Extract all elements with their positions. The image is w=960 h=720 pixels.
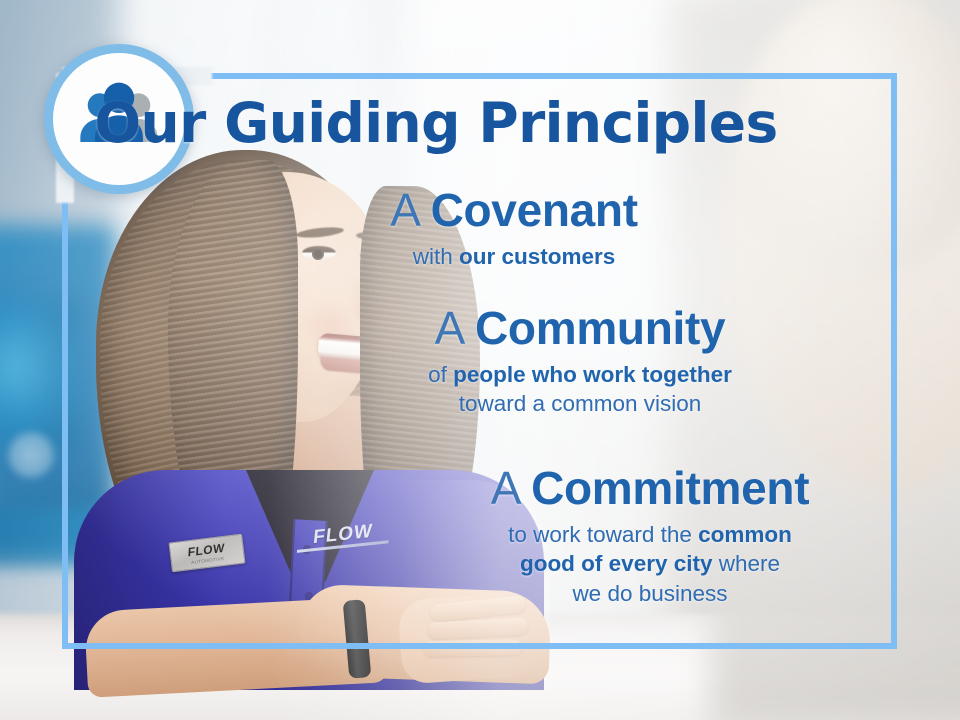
principle-commitment-keyword: Commitment — [531, 462, 809, 514]
principle-commitment: A Commitment to work toward the common g… — [400, 464, 900, 609]
principle-commitment-sub-line1-lead: to work toward the — [508, 522, 698, 547]
principle-commitment-sub-line2-tail: where — [713, 551, 781, 576]
principle-commitment-sub-line1-bold: common — [698, 522, 792, 547]
principle-covenant-heading: A Covenant — [284, 186, 744, 235]
principle-community-sub-line1-bold: people who work together — [453, 362, 732, 387]
principle-covenant: A Covenant with our customers — [284, 186, 744, 271]
principle-covenant-sub-lead: with — [413, 244, 459, 269]
principle-covenant-sub-bold: our customers — [459, 244, 615, 269]
principle-commitment-article: A — [491, 462, 531, 514]
page-title: Our Guiding Principles — [0, 96, 872, 151]
principle-commitment-sub-line2-bold: good of every city — [520, 551, 713, 576]
principle-community: A Community of people who work together … — [330, 304, 830, 419]
principle-commitment-sub-line3: we do business — [572, 581, 727, 606]
principle-community-sub-line1-lead: of — [428, 362, 453, 387]
principle-community-article: A — [435, 302, 475, 354]
principle-covenant-article: A — [390, 184, 430, 236]
principle-community-keyword: Community — [475, 302, 725, 354]
principle-covenant-subtext: with our customers — [284, 242, 744, 272]
principle-covenant-keyword: Covenant — [431, 184, 638, 236]
principle-community-heading: A Community — [330, 304, 830, 353]
principle-community-sub-line2: toward a common vision — [459, 391, 702, 416]
principle-commitment-subtext: to work toward the common good of every … — [400, 520, 900, 609]
principle-commitment-heading: A Commitment — [400, 464, 900, 513]
principle-community-subtext: of people who work together toward a com… — [330, 360, 830, 419]
guiding-principles-poster: FLOW FLOW AUTOMOTIVE — [0, 0, 960, 720]
employee-finger-3 — [424, 639, 522, 657]
